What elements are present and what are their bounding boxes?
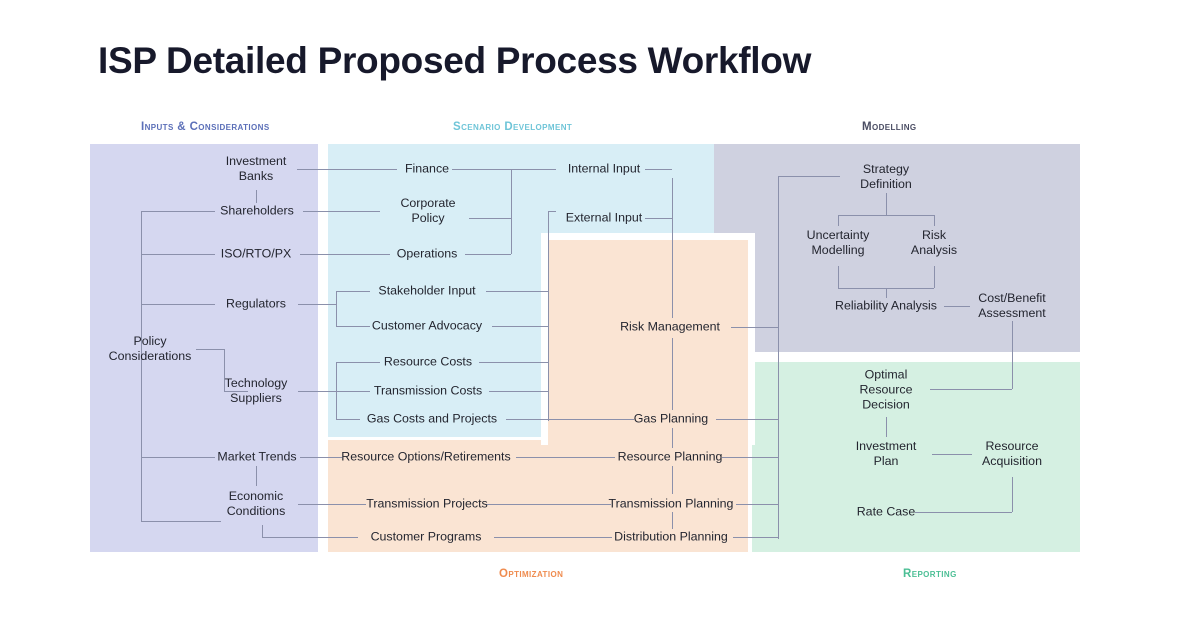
connector-resource-to-transmission xyxy=(672,466,673,494)
connector-transmission-to-distribution xyxy=(672,512,673,529)
node-corporate-policy[interactable]: Corporate Policy xyxy=(400,196,455,226)
connector-uncertainty-join xyxy=(838,266,839,288)
section-label-scenario: Scenario Development xyxy=(453,121,572,133)
connector-internal-input-in xyxy=(511,169,556,170)
connector-reliability-to-costbenefit xyxy=(944,306,970,307)
connector-risk-to-gas xyxy=(672,338,673,410)
connector-scenario-collector xyxy=(511,169,512,254)
connector-acquisition-to-ratecase xyxy=(1012,477,1013,512)
connector-economic-spine xyxy=(141,521,221,522)
connector-customer-advocacy-out xyxy=(492,326,548,327)
connector-investment-banks-out xyxy=(297,169,397,170)
connector-external-input-trunk xyxy=(548,211,549,421)
connector-iso-spine xyxy=(141,254,215,255)
connector-transmission-costs-in xyxy=(336,391,370,392)
connector-customer-programs-out xyxy=(494,537,612,538)
node-resource-options-retirements[interactable]: Resource Options/Retirements xyxy=(341,450,510,465)
connector-costbenefit-to-optimal xyxy=(930,389,1012,390)
connector-investment-banks-down xyxy=(256,190,257,203)
connector-market-trends-spine xyxy=(141,457,215,458)
node-finance[interactable]: Finance xyxy=(405,162,449,177)
connector-right-trunk xyxy=(778,176,779,539)
section-label-inputs: Inputs & Considerations xyxy=(141,121,270,133)
node-investment-plan[interactable]: Investment Plan xyxy=(856,439,917,469)
connector-ratecase-in xyxy=(915,512,1012,513)
connector-transmission-costs-out xyxy=(489,391,548,392)
connector-to-reliability xyxy=(886,288,887,298)
connector-shareholders-spine xyxy=(141,211,215,212)
node-transmission-costs[interactable]: Transmission Costs xyxy=(374,384,482,399)
connector-internal-input-out xyxy=(645,169,672,170)
node-rate-case[interactable]: Rate Case xyxy=(857,505,916,520)
node-cost-benefit-assessment[interactable]: Cost/Benefit Assessment xyxy=(978,291,1046,321)
node-distribution-planning[interactable]: Distribution Planning xyxy=(614,530,728,545)
connector-economic-to-customer-programs-v xyxy=(262,525,263,537)
node-gas-planning[interactable]: Gas Planning xyxy=(634,412,708,427)
node-internal-input[interactable]: Internal Input xyxy=(568,162,640,177)
connector-inputs-spine xyxy=(141,211,142,522)
node-iso-rto-px[interactable]: ISO/RTO/PX xyxy=(221,247,291,262)
connector-stakeholder-in xyxy=(336,291,370,292)
node-regulators[interactable]: Regulators xyxy=(226,297,286,312)
connector-external-input-out xyxy=(645,218,672,219)
node-resource-costs[interactable]: Resource Costs xyxy=(384,355,472,370)
connector-investment-to-acquisition xyxy=(932,454,972,455)
node-strategy-definition[interactable]: Strategy Definition xyxy=(860,162,912,192)
section-label-optimization: Optimization xyxy=(499,568,563,580)
node-market-trends[interactable]: Market Trends xyxy=(217,450,296,465)
page-title: ISP Detailed Proposed Process Workflow xyxy=(98,40,811,82)
connector-regulators-spine xyxy=(141,304,215,305)
connector-gas-costs-in xyxy=(336,419,360,420)
node-operations[interactable]: Operations xyxy=(397,247,458,262)
connector-distribution-planning-out xyxy=(733,537,779,538)
connector-shareholders-out xyxy=(303,211,380,212)
connector-finance-out xyxy=(452,169,511,170)
node-resource-acquisition[interactable]: Resource Acquisition xyxy=(982,439,1042,469)
node-external-input[interactable]: External Input xyxy=(566,211,642,226)
node-shareholders[interactable]: Shareholders xyxy=(220,204,294,219)
connector-inputs-to-risk xyxy=(672,178,673,318)
connector-costbenefit-down xyxy=(1012,321,1013,389)
node-uncertainty-modelling[interactable]: Uncertainty Modelling xyxy=(807,228,870,258)
connector-gas-costs-out xyxy=(506,419,634,420)
connector-optimal-to-investment xyxy=(886,417,887,437)
node-technology-suppliers[interactable]: Technology Suppliers xyxy=(225,376,288,406)
section-label-modelling: Modelling xyxy=(862,121,917,133)
connector-market-trends-out xyxy=(300,457,342,458)
connector-strategy-definition-in xyxy=(778,176,840,177)
connector-stakeholder-out xyxy=(486,291,548,292)
node-gas-costs-and-projects[interactable]: Gas Costs and Projects xyxy=(367,412,497,427)
connector-gas-planning-out xyxy=(716,419,779,420)
node-policy-considerations[interactable]: Policy Considerations xyxy=(109,334,192,364)
connector-transmission-planning-out xyxy=(736,504,779,505)
connector-modelling-split-top xyxy=(838,215,934,216)
connector-resource-costs-out xyxy=(479,362,548,363)
connector-policy-bracket-top xyxy=(196,349,224,350)
connector-technology-out xyxy=(298,391,336,392)
connector-resource-costs-in xyxy=(336,362,380,363)
node-stakeholder-input[interactable]: Stakeholder Input xyxy=(378,284,475,299)
node-investment-banks[interactable]: Investment Banks xyxy=(226,154,287,184)
connector-customer-advocacy-in xyxy=(336,326,370,327)
connector-economic-out xyxy=(298,504,366,505)
section-label-reporting: Reporting xyxy=(903,568,957,580)
connector-customer-programs-in xyxy=(262,537,358,538)
node-customer-advocacy[interactable]: Customer Advocacy xyxy=(372,319,482,334)
connector-regulators-out xyxy=(298,304,336,305)
connector-risk-analysis-join xyxy=(934,266,935,288)
connector-iso-out xyxy=(300,254,390,255)
connector-strategy-down xyxy=(886,193,887,215)
node-transmission-planning[interactable]: Transmission Planning xyxy=(609,497,734,512)
node-reliability-analysis[interactable]: Reliability Analysis xyxy=(835,299,937,314)
node-customer-programs[interactable]: Customer Programs xyxy=(371,530,482,545)
diagram-canvas: ISP Detailed Proposed Process Workflow I… xyxy=(0,0,1200,628)
connector-uncertainty-down xyxy=(838,215,839,226)
connector-corporate-policy-out xyxy=(469,218,511,219)
connector-risk-management-out xyxy=(731,327,779,328)
node-risk-analysis[interactable]: Risk Analysis xyxy=(911,228,957,258)
connector-operations-out xyxy=(465,254,511,255)
connector-external-input-lead xyxy=(548,211,556,212)
node-transmission-projects[interactable]: Transmission Projects xyxy=(366,497,487,512)
node-resource-planning[interactable]: Resource Planning xyxy=(618,450,723,465)
connector-regulators-bracket xyxy=(336,291,337,326)
node-optimal-resource-decision[interactable]: Optimal Resource Decision xyxy=(859,368,912,413)
connector-market-economic xyxy=(256,466,257,486)
node-risk-management[interactable]: Risk Management xyxy=(620,320,720,335)
connector-resource-options-out xyxy=(516,457,615,458)
connector-risk-analysis-down xyxy=(934,215,935,226)
node-economic-conditions[interactable]: Economic Conditions xyxy=(227,489,286,519)
connector-transmission-projects-out xyxy=(486,504,611,505)
connector-gas-to-resource xyxy=(672,428,673,448)
connector-resource-planning-out xyxy=(722,457,779,458)
